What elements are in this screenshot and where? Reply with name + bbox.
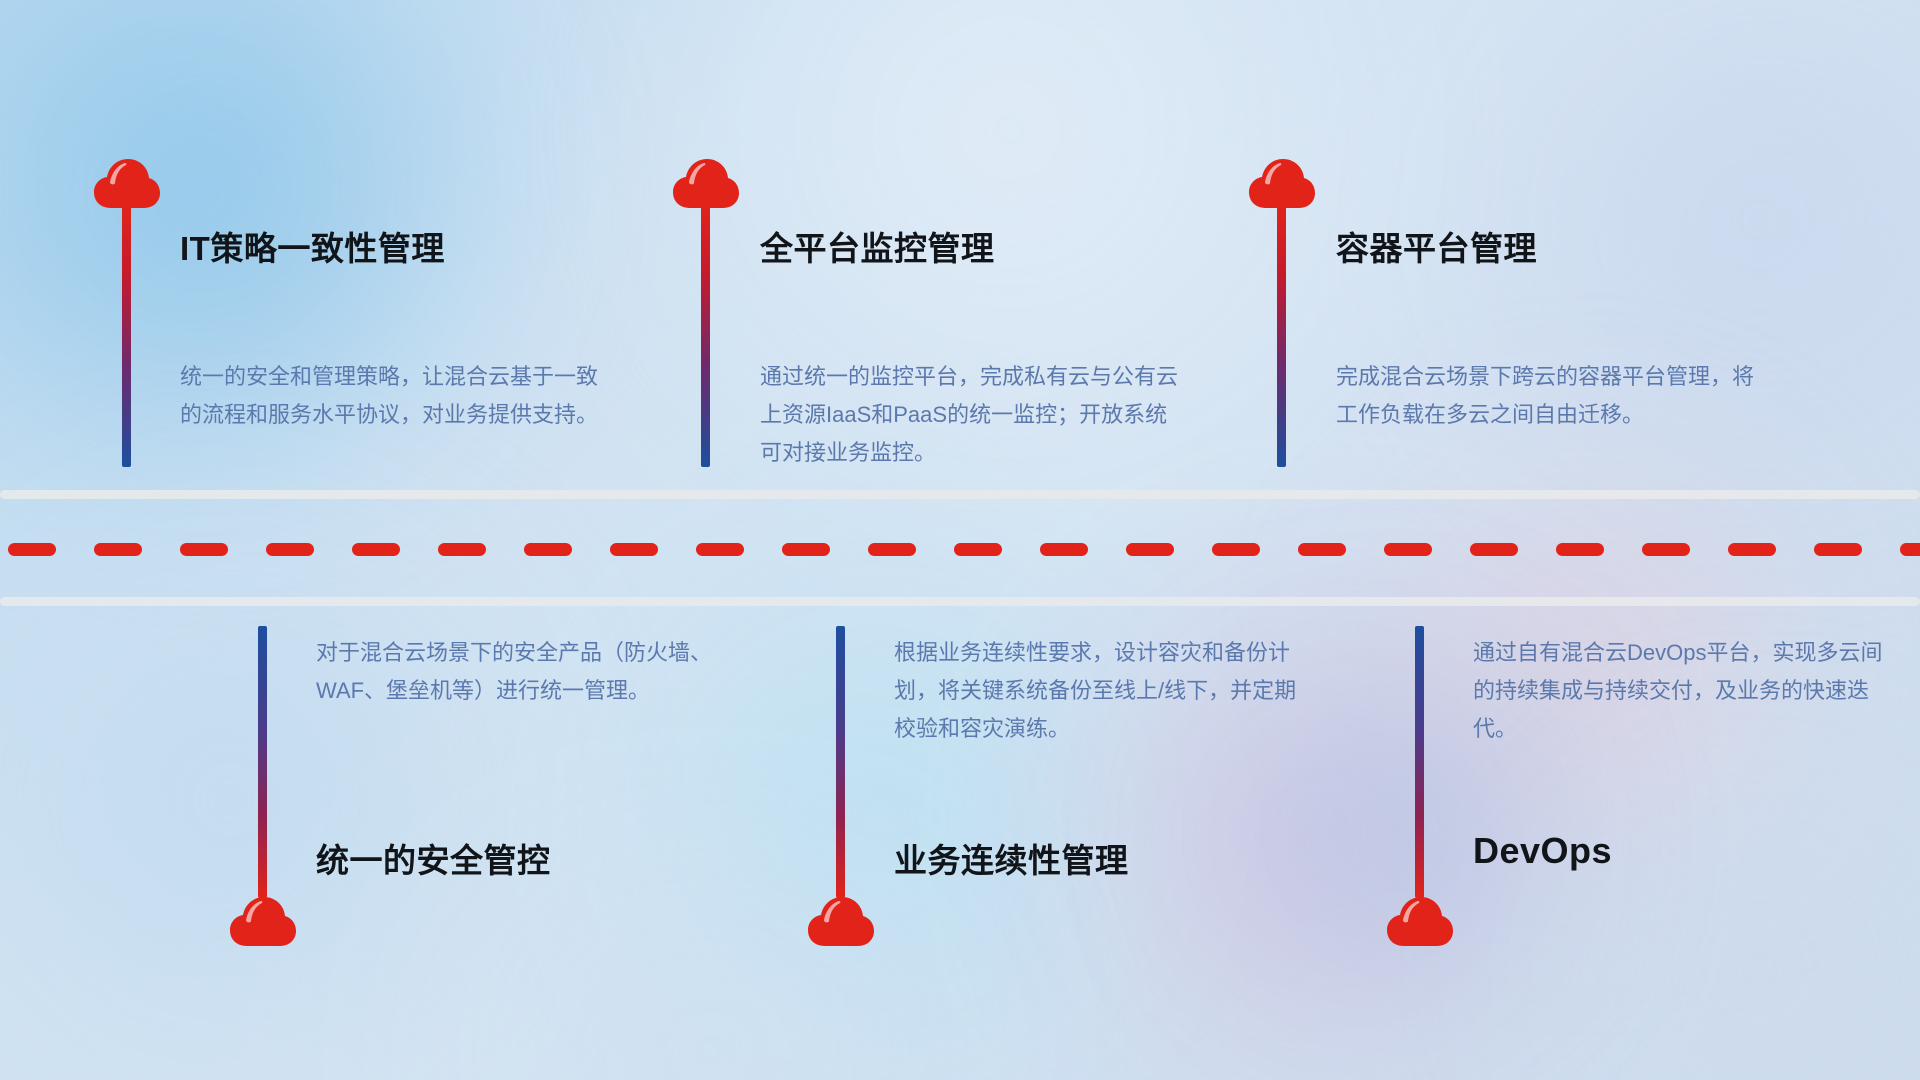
divider-rule-lower xyxy=(0,597,1920,606)
top-card-3-title: 容器平台管理 xyxy=(1336,222,1537,270)
divider-dash-20 xyxy=(1728,543,1776,556)
divider-dash-18 xyxy=(1556,543,1604,556)
pin-stem xyxy=(1415,626,1424,898)
divider-dash-7 xyxy=(610,543,658,556)
bottom-card-2-title: 业务连续性管理 xyxy=(894,834,1129,882)
divider-dash-21 xyxy=(1814,543,1862,556)
cloud-icon xyxy=(229,896,297,948)
divider-dash-11 xyxy=(954,543,1002,556)
divider-dash-8 xyxy=(696,543,744,556)
divider-dash-3 xyxy=(266,543,314,556)
divider-rule-upper xyxy=(0,490,1920,499)
divider-dash-13 xyxy=(1126,543,1174,556)
cloud-icon xyxy=(807,896,875,948)
divider-dash-10 xyxy=(868,543,916,556)
pin-stem xyxy=(701,204,710,467)
top-card-2-title: 全平台监控管理 xyxy=(760,222,995,270)
divider-dash-14 xyxy=(1212,543,1260,556)
top-card-2-body: 通过统一的监控平台，完成私有云与公有云上资源IaaS和PaaS的统一监控；开放系… xyxy=(760,358,1188,472)
divider-dash-5 xyxy=(438,543,486,556)
divider-dash-16 xyxy=(1384,543,1432,556)
divider-dash-4 xyxy=(352,543,400,556)
divider-dash-9 xyxy=(782,543,830,556)
bottom-card-2-body: 根据业务连续性要求，设计容灾和备份计划，将关键系统备份至线上/线下，并定期校验和… xyxy=(894,634,1314,748)
divider-dash-2 xyxy=(180,543,228,556)
cloud-icon xyxy=(93,158,161,210)
divider-dash-0 xyxy=(8,543,56,556)
bottom-card-1-body: 对于混合云场景下的安全产品（防火墙、WAF、堡垒机等）进行统一管理。 xyxy=(316,634,736,710)
divider-dash-15 xyxy=(1298,543,1346,556)
divider-dash-12 xyxy=(1040,543,1088,556)
pin-stem xyxy=(1277,204,1286,467)
bottom-card-3-body: 通过自有混合云DevOps平台，实现多云间的持续集成与持续交付，及业务的快速迭代… xyxy=(1473,634,1893,748)
divider-dash-17 xyxy=(1470,543,1518,556)
top-card-1-body: 统一的安全和管理策略，让混合云基于一致的流程和服务水平协议，对业务提供支持。 xyxy=(180,358,604,434)
top-card-3-body: 完成混合云场景下跨云的容器平台管理，将工作负载在多云之间自由迁移。 xyxy=(1336,358,1760,434)
pin-stem xyxy=(836,626,845,898)
pin-stem xyxy=(122,204,131,467)
bottom-card-3-title: DevOps xyxy=(1473,830,1612,872)
divider-dash-22 xyxy=(1900,543,1920,556)
cloud-icon xyxy=(1248,158,1316,210)
top-card-1-title: IT策略一致性管理 xyxy=(180,222,445,270)
divider-dash-1 xyxy=(94,543,142,556)
divider-dash-19 xyxy=(1642,543,1690,556)
cloud-icon xyxy=(1386,896,1454,948)
divider-dash-6 xyxy=(524,543,572,556)
bottom-card-1-title: 统一的安全管控 xyxy=(316,834,551,882)
divider-dashed-line xyxy=(0,543,1920,556)
pin-stem xyxy=(258,626,267,898)
cloud-icon xyxy=(672,158,740,210)
